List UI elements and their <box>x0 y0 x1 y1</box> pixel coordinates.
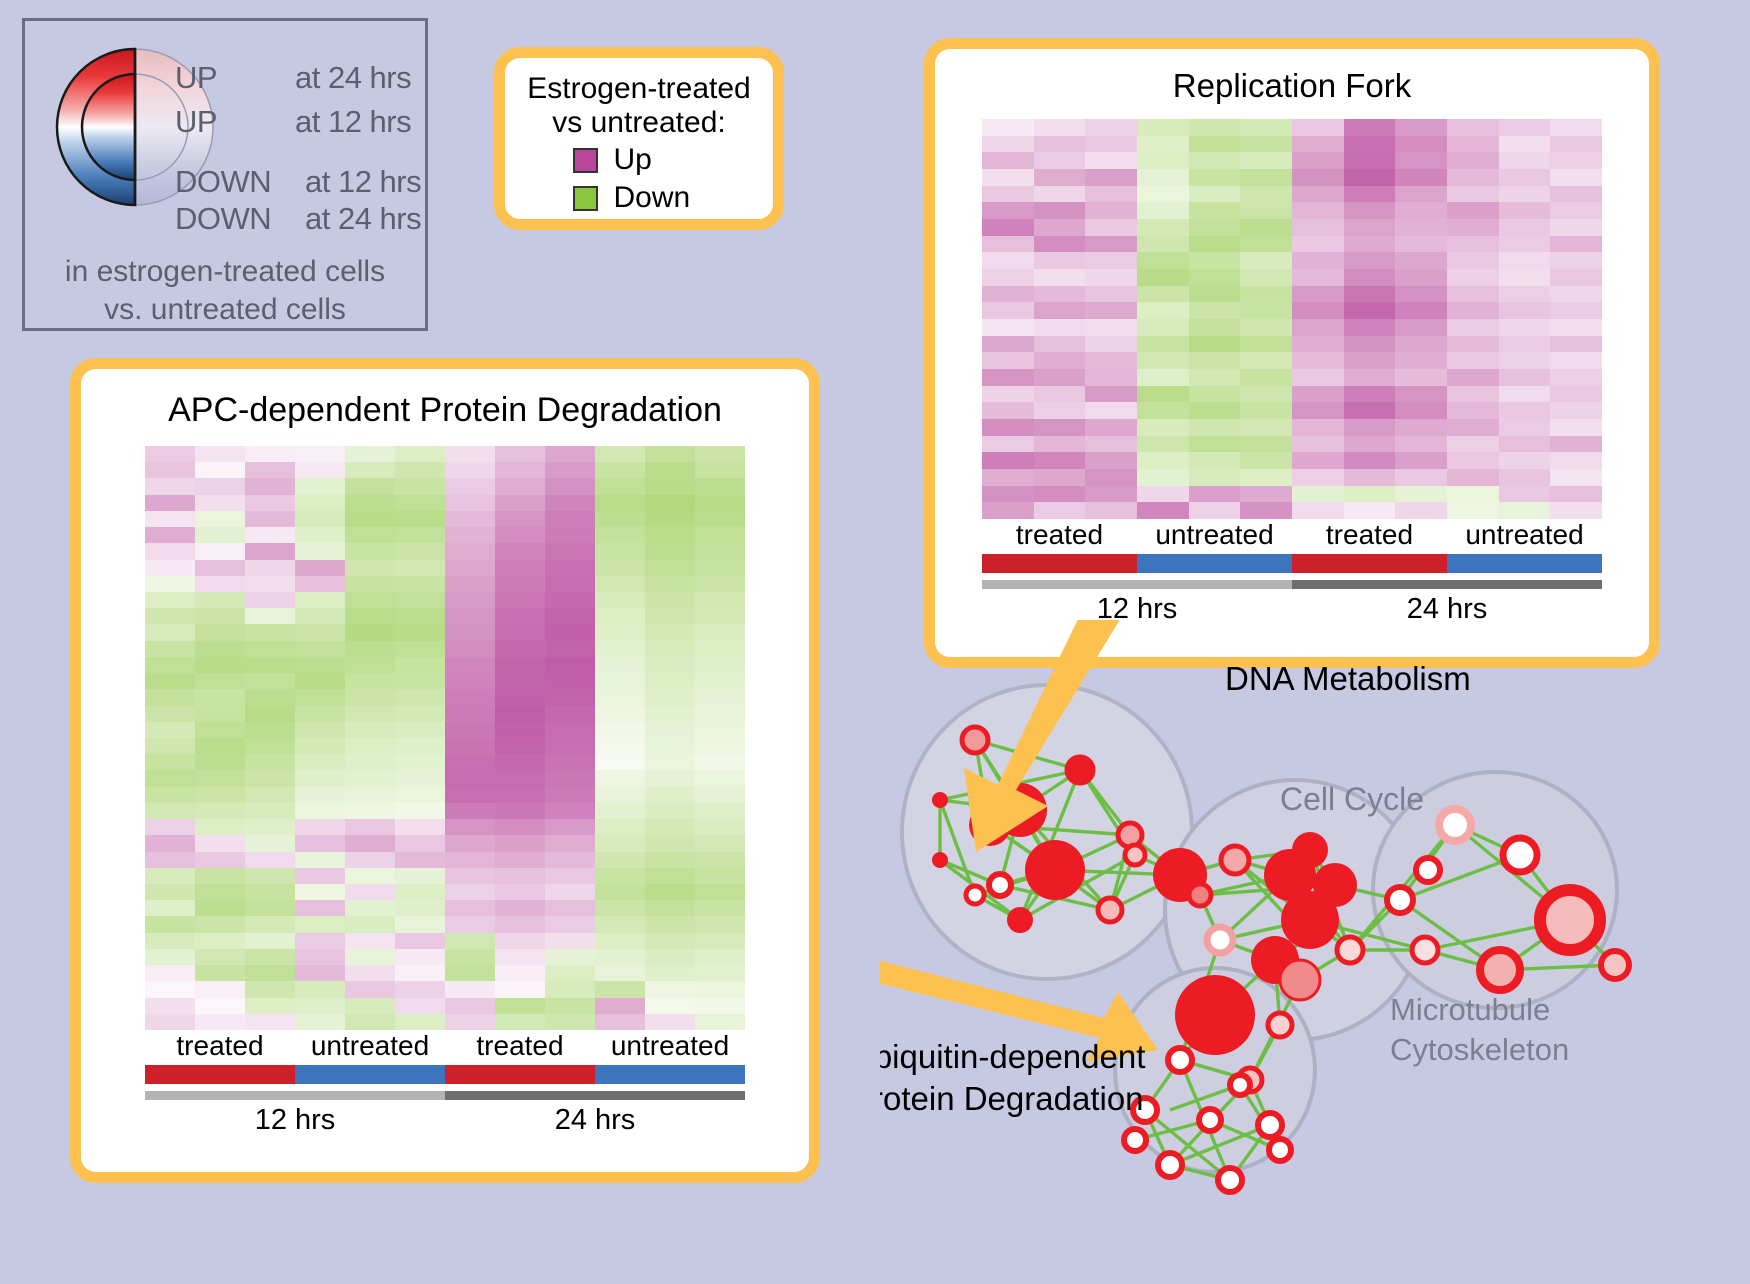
heatmap-cell <box>595 770 645 786</box>
heatmap-cell <box>195 641 245 657</box>
heatmap-cell <box>1550 252 1602 269</box>
heatmap-cell <box>1499 302 1551 319</box>
heatmap-cell <box>1550 452 1602 469</box>
heatmap-cell <box>495 819 545 835</box>
heatmap-cell <box>295 819 345 835</box>
heatmap-cell <box>495 511 545 527</box>
heatmap-cell <box>495 608 545 624</box>
heatmap-cell <box>395 916 445 932</box>
heatmap-cell <box>445 933 495 949</box>
heatmap-cell <box>982 486 1034 503</box>
heatmap-cell <box>1292 219 1344 236</box>
heatmap-cell <box>195 835 245 851</box>
heatmap-cell <box>1034 286 1086 303</box>
heatmap-cell <box>245 1014 295 1030</box>
heatmap-cell <box>1189 269 1241 286</box>
heatmap-cell <box>245 608 295 624</box>
heatmap-cell <box>1550 286 1602 303</box>
heatmap-cell <box>1085 202 1137 219</box>
network-svg: DNA Metabolism Cell Cycle Microtubule Cy… <box>880 620 1750 1279</box>
heatmap-cell <box>145 706 195 722</box>
heatmap-cell <box>395 576 445 592</box>
heatmap-cell <box>445 706 495 722</box>
heatmap-cell <box>1292 236 1344 253</box>
heatmap-cell <box>1189 336 1241 353</box>
heatmap-cell <box>1189 169 1241 186</box>
heatmap-cell <box>645 965 695 981</box>
heatmap-cell <box>295 706 345 722</box>
heatmap-cell <box>1550 152 1602 169</box>
heatmap-cell <box>1085 319 1137 336</box>
heatmap-cell <box>595 787 645 803</box>
heatmap-cell <box>195 852 245 868</box>
heatmap-cell <box>1395 169 1447 186</box>
heatmap-cell <box>595 998 645 1014</box>
heatmap-cell <box>545 495 595 511</box>
condition-label-row: treateduntreatedtreateduntreated <box>145 1030 745 1062</box>
heatmap-cell <box>1447 502 1499 519</box>
heatmap-cell <box>495 754 545 770</box>
heatmap-cell <box>595 657 645 673</box>
heatmap-cell <box>595 819 645 835</box>
heatmap-cell <box>1344 452 1396 469</box>
heatmap-cell <box>1499 119 1551 136</box>
heatmap-cell <box>245 738 295 754</box>
heatmap-cell <box>445 608 495 624</box>
heatmap-cell <box>445 965 495 981</box>
heatmap-cell <box>1395 252 1447 269</box>
heatmap-cell <box>195 900 245 916</box>
legend-item-up: Up <box>505 143 773 177</box>
heatmap-cell <box>645 933 695 949</box>
heatmap-cell <box>695 852 745 868</box>
heatmap-cell <box>1499 136 1551 153</box>
heatmap-cell <box>1499 419 1551 436</box>
heatmap-cell <box>495 770 545 786</box>
heatmap-cell <box>245 787 295 803</box>
heatmap-cell <box>195 576 245 592</box>
heatmap-cell <box>445 576 495 592</box>
heatmap-cell <box>395 803 445 819</box>
heatmap-cell <box>1395 436 1447 453</box>
color-key-footer: in estrogen-treated cells vs. untreated … <box>25 253 425 328</box>
heatmap-cell <box>395 787 445 803</box>
heatmap-cell <box>245 543 295 559</box>
heatmap-cell <box>1137 419 1189 436</box>
heatmap-cell <box>982 319 1034 336</box>
heatmap-cell <box>245 916 295 932</box>
heatmap-cell <box>195 884 245 900</box>
heatmap-cell <box>295 933 345 949</box>
heatmap-cell <box>1344 486 1396 503</box>
heatmap-cell <box>695 803 745 819</box>
heatmap-cell <box>495 495 545 511</box>
heatmap-cell <box>345 576 395 592</box>
heatmap-grid <box>145 446 745 1030</box>
heatmap-cell <box>645 641 695 657</box>
heatmap-cell <box>1499 469 1551 486</box>
heatmap-cell <box>1189 502 1241 519</box>
heatmap-cell <box>545 657 595 673</box>
heatmap-cell <box>982 369 1034 386</box>
network-label-dna-metabolism: DNA Metabolism <box>1225 660 1471 697</box>
heatmap-cell <box>695 462 745 478</box>
heatmap-cell <box>595 495 645 511</box>
heatmap-cell <box>1034 386 1086 403</box>
heatmap-cell <box>395 478 445 494</box>
heatmap-cell <box>345 738 395 754</box>
heatmap-cell <box>495 689 545 705</box>
heatmap-cell <box>1292 502 1344 519</box>
heatmap-cell <box>1189 319 1241 336</box>
heatmap-cell <box>1499 219 1551 236</box>
heatmap-cell <box>1447 436 1499 453</box>
heatmap-cell <box>982 452 1034 469</box>
heatmap-cell <box>545 641 595 657</box>
heatmap-cell <box>1240 202 1292 219</box>
legend-swatch-up <box>573 148 598 173</box>
heatmap-cell <box>645 770 695 786</box>
heatmap-cell <box>195 624 245 640</box>
heatmap-cell <box>495 738 545 754</box>
heatmap-cell <box>345 803 395 819</box>
heatmap-cell <box>195 998 245 1014</box>
heatmap-cell <box>295 495 345 511</box>
heatmap-cell <box>395 641 445 657</box>
heatmap-cell <box>195 689 245 705</box>
heatmap-cell <box>1034 302 1086 319</box>
heatmap-cell <box>1447 269 1499 286</box>
heatmap-cell <box>1085 119 1137 136</box>
heatmap-cell <box>1447 402 1499 419</box>
heatmap-cell <box>1344 186 1396 203</box>
heatmap-cell <box>145 916 195 932</box>
heatmap-cell <box>245 495 295 511</box>
heatmap-cell <box>1189 252 1241 269</box>
heatmap-cell <box>545 560 595 576</box>
heatmap-cell <box>1447 286 1499 303</box>
heatmap-cell <box>345 657 395 673</box>
heatmap-cell <box>495 868 545 884</box>
heatmap-cell <box>395 706 445 722</box>
heatmap-cell <box>1085 486 1137 503</box>
heatmap-cell <box>1395 386 1447 403</box>
heatmap-cell <box>1137 169 1189 186</box>
heatmap-cell <box>445 511 495 527</box>
condition-label-treated: treated <box>1292 519 1447 551</box>
heatmap-cell <box>245 819 295 835</box>
heatmap-cell <box>1447 152 1499 169</box>
apc-annotations: treateduntreatedtreateduntreated12 hrs24… <box>145 1030 745 1137</box>
legend-items: UpDown <box>505 143 773 215</box>
heatmap-cell <box>495 933 545 949</box>
heatmap-cell <box>1034 119 1086 136</box>
heatmap-cell <box>1499 352 1551 369</box>
heatmap-cell <box>1499 436 1551 453</box>
heatmap-cell <box>445 900 495 916</box>
key-label-down-12: DOWN <box>175 164 271 200</box>
heatmap-cell <box>1344 236 1396 253</box>
heatmap-cell <box>645 884 695 900</box>
heatmap-cell <box>1447 452 1499 469</box>
heatmap-cell <box>1344 269 1396 286</box>
heatmap-cell <box>145 884 195 900</box>
heatmap-cell <box>645 835 695 851</box>
heatmap-cell <box>645 462 695 478</box>
heatmap-cell <box>1499 502 1551 519</box>
heatmap-cell <box>595 916 645 932</box>
heatmap-cell <box>245 624 295 640</box>
heatmap-cell <box>445 689 495 705</box>
heatmap-cell <box>445 916 495 932</box>
heatmap-cell <box>245 868 295 884</box>
heatmap-cell <box>145 608 195 624</box>
heatmap-cell <box>1189 219 1241 236</box>
heatmap-cell <box>645 527 695 543</box>
heatmap-cell <box>1034 319 1086 336</box>
heatmap-cell <box>595 722 645 738</box>
timepoint-color-segment-1 <box>1292 580 1602 589</box>
heatmap-cell <box>145 787 195 803</box>
heatmap-cell <box>145 900 195 916</box>
heatmap-cell <box>545 900 595 916</box>
condition-label-treated: treated <box>982 519 1137 551</box>
heatmap-cell <box>395 868 445 884</box>
heatmap-cell <box>645 560 695 576</box>
heatmap-cell <box>595 852 645 868</box>
heatmap-cell <box>1137 402 1189 419</box>
heatmap-cell <box>545 916 595 932</box>
heatmap-cell <box>445 657 495 673</box>
heatmap-cell <box>1550 402 1602 419</box>
heatmap-cell <box>982 502 1034 519</box>
heatmap-cell <box>545 981 595 997</box>
heatmap-cell <box>595 478 645 494</box>
heatmap-cell <box>595 738 645 754</box>
heatmap-cell <box>545 462 595 478</box>
heatmap-cell <box>345 673 395 689</box>
heatmap-cell <box>1085 402 1137 419</box>
heatmap-cell <box>145 803 195 819</box>
heatmap-cell <box>445 770 495 786</box>
heatmap-cell <box>295 657 345 673</box>
heatmap-cell <box>595 608 645 624</box>
heatmap-cell <box>1499 202 1551 219</box>
heatmap-cell <box>145 933 195 949</box>
heatmap-cell <box>595 624 645 640</box>
heatmap-cell <box>1447 386 1499 403</box>
heatmap-cell <box>1189 402 1241 419</box>
heatmap-cell <box>395 462 445 478</box>
heatmap-cell <box>1395 219 1447 236</box>
heatmap-cell <box>695 657 745 673</box>
heatmap-cell <box>1189 119 1241 136</box>
heatmap-cell <box>545 738 595 754</box>
heatmap-cell <box>1499 319 1551 336</box>
condition-color-bar <box>145 1065 745 1084</box>
heatmap-cell <box>245 673 295 689</box>
heatmap-cell <box>295 608 345 624</box>
heatmap-cell <box>1447 219 1499 236</box>
heatmap-cell <box>545 835 595 851</box>
heatmap-cell <box>1240 319 1292 336</box>
heatmap-cell <box>345 754 395 770</box>
heatmap-cell <box>495 462 545 478</box>
heatmap-cell <box>545 884 595 900</box>
heatmap-cell <box>1292 336 1344 353</box>
heatmap-cell <box>695 511 745 527</box>
heatmap-cell <box>1550 202 1602 219</box>
heatmap-cell <box>445 787 495 803</box>
heatmap-cell <box>145 754 195 770</box>
heatmap-cell <box>1344 286 1396 303</box>
heatmap-cell <box>645 787 695 803</box>
heatmap-cell <box>982 252 1034 269</box>
heatmap-cell <box>1292 269 1344 286</box>
heatmap-cell <box>145 592 195 608</box>
heatmap-cell <box>695 754 745 770</box>
heatmap-cell <box>1499 452 1551 469</box>
heatmap-cell <box>695 673 745 689</box>
heatmap-cell <box>195 543 245 559</box>
heatmap-cell <box>145 673 195 689</box>
heatmap-cell <box>345 933 395 949</box>
heatmap-cell <box>345 527 395 543</box>
heatmap-cell <box>595 576 645 592</box>
heatmap-cell <box>1292 452 1344 469</box>
heatmap-cell <box>982 402 1034 419</box>
heatmap-cell <box>145 446 195 462</box>
heatmap-cell <box>445 884 495 900</box>
heatmap-cell <box>645 446 695 462</box>
heatmap-cell <box>195 673 245 689</box>
heatmap-cell <box>195 819 245 835</box>
heatmap-cell <box>1550 502 1602 519</box>
condition-label-untreated: untreated <box>1137 519 1292 551</box>
key-label-at-12: at 12 hrs <box>295 104 411 140</box>
heatmap-cell <box>195 706 245 722</box>
heatmap-cell <box>195 916 245 932</box>
heatmap-cell <box>245 949 295 965</box>
heatmap-cell <box>395 689 445 705</box>
heatmap-cell <box>1189 286 1241 303</box>
heatmap-cell <box>295 949 345 965</box>
heatmap-cell <box>295 787 345 803</box>
heatmap-cell <box>545 803 595 819</box>
heatmap-cell <box>545 478 595 494</box>
heatmap-cell <box>645 624 695 640</box>
heatmap-cell <box>495 949 545 965</box>
heatmap-cell <box>1292 286 1344 303</box>
heatmap-cell <box>1344 152 1396 169</box>
heatmap-cell <box>645 511 695 527</box>
heatmap-cell <box>495 592 545 608</box>
heatmap-cell <box>395 1014 445 1030</box>
condition-color-segment-1 <box>295 1065 445 1084</box>
heatmap-cell <box>145 657 195 673</box>
heatmap-cell <box>295 624 345 640</box>
heatmap-cell <box>1499 369 1551 386</box>
heatmap-cell <box>1344 169 1396 186</box>
heatmap-cell <box>445 803 495 819</box>
heatmap-cell <box>1085 219 1137 236</box>
heatmap-cell <box>982 202 1034 219</box>
condition-label-untreated: untreated <box>595 1030 745 1062</box>
heatmap-cell <box>1550 419 1602 436</box>
heatmap-cell <box>1085 386 1137 403</box>
heatmap-cell <box>545 608 595 624</box>
heatmap-cell <box>245 852 295 868</box>
heatmap-cell <box>982 419 1034 436</box>
heatmap-cell <box>1292 252 1344 269</box>
heatmap-cell <box>1137 452 1189 469</box>
heatmap-cell <box>145 478 195 494</box>
heatmap-cell <box>295 852 345 868</box>
heatmap-cell <box>1034 219 1086 236</box>
heatmap-cell <box>1292 436 1344 453</box>
heatmap-cell <box>145 965 195 981</box>
heatmap-cell <box>495 998 545 1014</box>
heatmap-cell <box>245 478 295 494</box>
heatmap-cell <box>545 543 595 559</box>
heatmap-cell <box>1034 152 1086 169</box>
heatmap-cell <box>1292 469 1344 486</box>
heatmap-cell <box>295 738 345 754</box>
heatmap-cell <box>545 933 595 949</box>
heatmap-cell <box>695 900 745 916</box>
heatmap-cell <box>1240 169 1292 186</box>
heatmap-cell <box>1447 486 1499 503</box>
heatmap-cell <box>1395 186 1447 203</box>
heatmap-cell <box>1085 186 1137 203</box>
heatmap-cell <box>1189 469 1241 486</box>
heatmap-cell <box>345 478 395 494</box>
heatmap-cell <box>145 722 195 738</box>
condition-color-segment-2 <box>445 1065 595 1084</box>
heatmap-cell <box>445 949 495 965</box>
key-label-down-at-12: at 12 hrs <box>305 164 421 200</box>
heatmap-cell <box>395 770 445 786</box>
heatmap-cell <box>982 236 1034 253</box>
heatmap-cell <box>245 511 295 527</box>
color-key-box: UP at 24 hrs UP at 12 hrs DOWN at 12 hrs… <box>22 18 428 331</box>
heatmap-cell <box>145 1014 195 1030</box>
heatmap-cell <box>1034 369 1086 386</box>
key-label-at-24: at 24 hrs <box>295 60 411 96</box>
heatmap-cell <box>495 657 545 673</box>
heatmap-cell <box>695 933 745 949</box>
heatmap-cell <box>1550 486 1602 503</box>
heatmap-cell <box>645 949 695 965</box>
heatmap-cell <box>545 787 595 803</box>
heatmap-cell <box>545 770 595 786</box>
heatmap-cell <box>1499 486 1551 503</box>
heatmap-cell <box>445 543 495 559</box>
heatmap-cell <box>1499 402 1551 419</box>
heatmap-cell <box>1240 269 1292 286</box>
heatmap-cell <box>245 592 295 608</box>
heatmap-cell <box>982 119 1034 136</box>
heatmap-cell <box>145 624 195 640</box>
heatmap-cell <box>445 722 495 738</box>
heatmap-cell <box>295 835 345 851</box>
heatmap-cell <box>1447 186 1499 203</box>
heatmap-cell <box>645 819 695 835</box>
heatmap-cell <box>1240 502 1292 519</box>
heatmap-cell <box>395 722 445 738</box>
heatmap-cell <box>145 462 195 478</box>
heatmap-cell <box>145 981 195 997</box>
